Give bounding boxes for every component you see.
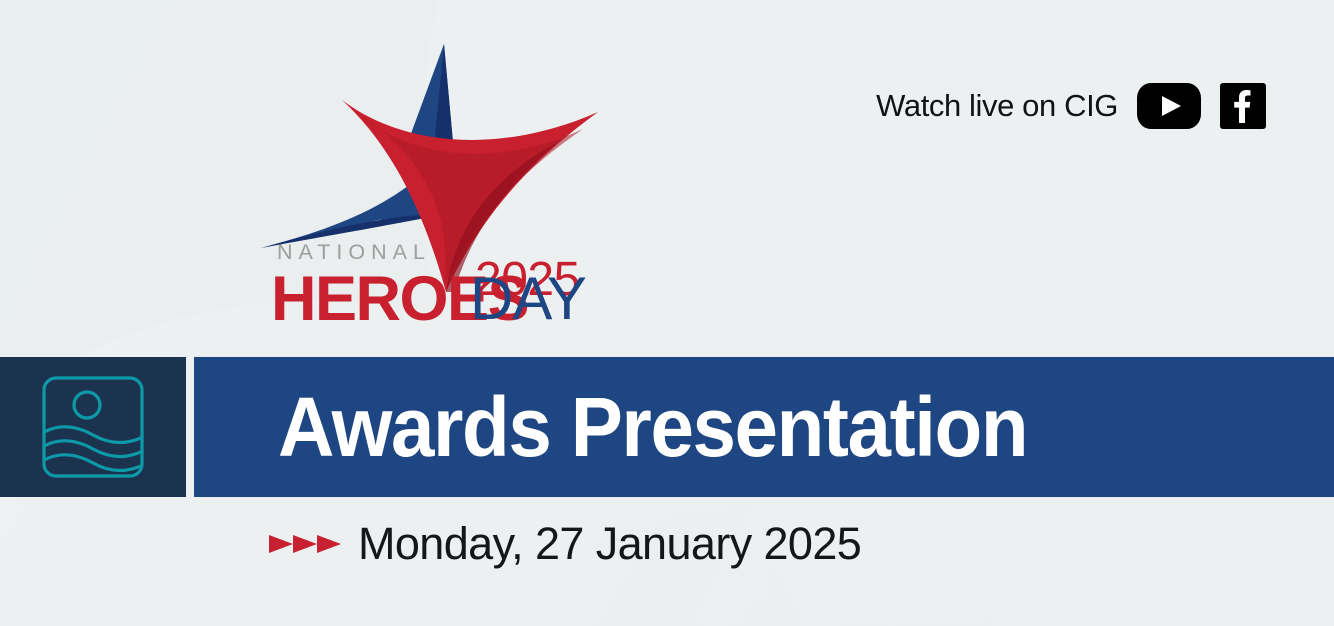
sun-over-water-icon — [41, 375, 145, 479]
event-date-text: Monday, 27 January 2025 — [358, 518, 861, 570]
event-date-row: Monday, 27 January 2025 — [268, 512, 861, 576]
watch-live-group: Watch live on CIG — [876, 78, 1266, 134]
national-heroes-day-logo: NATIONAL 2025 HEROES DAY — [258, 34, 608, 324]
logo-line-day: DAY — [470, 269, 586, 329]
youtube-icon[interactable] — [1137, 83, 1201, 129]
logo-line-national: NATIONAL — [277, 240, 431, 265]
event-banner-page: NATIONAL 2025 HEROES DAY Watch live on C… — [0, 0, 1334, 626]
watch-live-label: Watch live on CIG — [876, 88, 1118, 124]
facebook-icon[interactable] — [1220, 83, 1266, 129]
banner-title-bar: Awards Presentation — [194, 357, 1334, 497]
awards-banner-row: Awards Presentation — [0, 357, 1334, 497]
banner-divider — [186, 357, 194, 497]
page-title: Awards Presentation — [278, 385, 1027, 469]
logo-wordmark: NATIONAL 2025 HEROES DAY — [266, 240, 606, 340]
banner-icon-box — [0, 357, 186, 497]
triple-right-arrow-icon — [268, 529, 342, 559]
